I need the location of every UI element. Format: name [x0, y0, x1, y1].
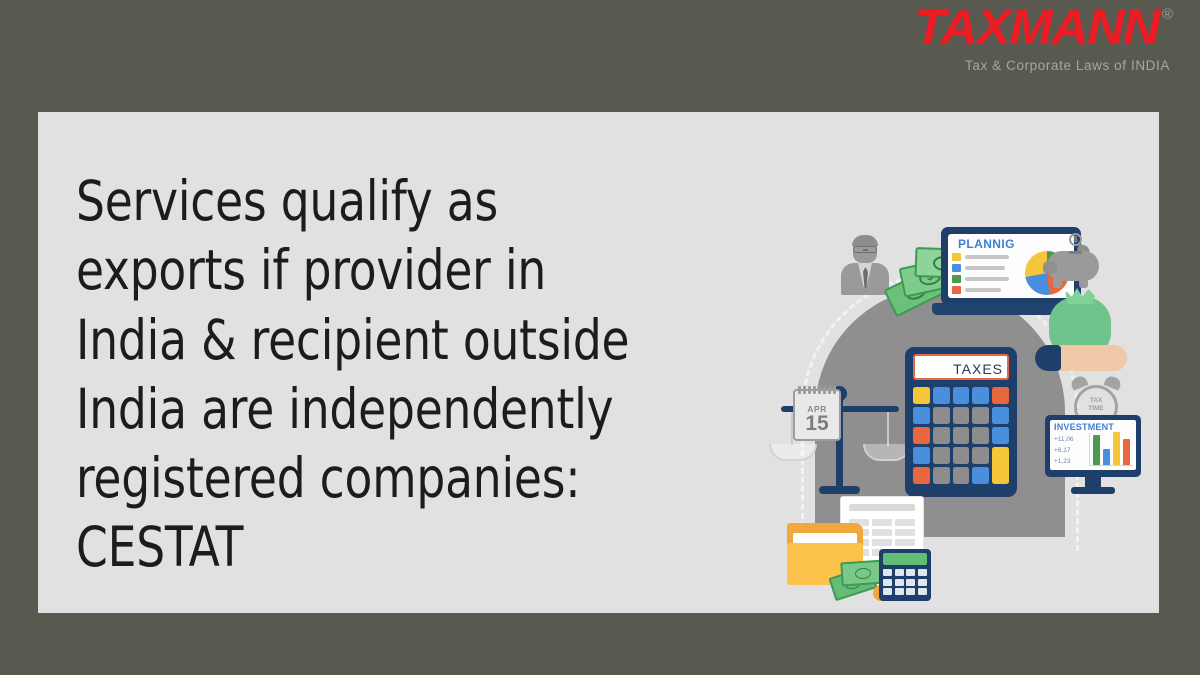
tax-illustration: $ $ $ PLANNIG [773, 207, 1143, 537]
hand-icon [1035, 345, 1127, 371]
brand-wordmark: TAXMANN [914, 4, 1159, 53]
headline-line-4: India are independently [76, 375, 683, 444]
headline-line-1: Services qualify as [76, 167, 683, 236]
investment-monitor-icon: INVESTMENT +11,06 +6,17 +1,23 [1045, 415, 1141, 499]
clock-text-line-1: TAX [1090, 397, 1103, 404]
headline-line-3: India & recipient outside [76, 306, 683, 375]
calendar-day: 15 [795, 413, 839, 434]
piggy-bank-icon: $ [1045, 233, 1105, 289]
monitor-value-3: +1,23 [1054, 456, 1074, 467]
calculator-keypad [913, 387, 1009, 484]
businessman-icon [839, 235, 891, 295]
monitor-bar-chart [1089, 433, 1133, 466]
calculator-icon: TAXES [905, 347, 1017, 497]
headline-line-6: CESTAT [76, 513, 683, 582]
headline-line-2: exports if provider in [76, 236, 683, 305]
monitor-value-2: +6,17 [1054, 445, 1074, 456]
paperwork-cluster-icon [787, 497, 937, 607]
mini-calculator-icon [879, 549, 931, 601]
monitor-title: INVESTMENT [1054, 422, 1114, 432]
clock-text-line-2: TIME [1088, 405, 1104, 412]
headline-line-5: registered companies: [76, 444, 683, 513]
monitor-value-1: +11,06 [1054, 434, 1074, 445]
taxmann-logo: TAXMANN® Tax & Corporate Laws of INDIA [928, 4, 1170, 73]
calculator-display-text: TAXES [953, 361, 1003, 377]
content-card: Services qualify as exports if provider … [38, 112, 1159, 613]
page-title: Services qualify as exports if provider … [76, 167, 683, 583]
calendar-icon: APR 15 [793, 389, 841, 441]
registered-trademark-icon: ® [1162, 6, 1173, 23]
money-bag-icon [1035, 293, 1131, 375]
brand-wordmark-row: TAXMANN® [928, 4, 1170, 53]
monitor-values: +11,06 +6,17 +1,23 [1054, 434, 1074, 467]
calculator-display: TAXES [913, 354, 1009, 380]
slide-canvas: TAXMANN® Tax & Corporate Laws of INDIA S… [0, 0, 1200, 675]
laptop-screen-title: PLANNIG [958, 237, 1015, 251]
laptop-legend [952, 253, 1009, 297]
brand-tagline: Tax & Corporate Laws of INDIA [928, 58, 1170, 73]
